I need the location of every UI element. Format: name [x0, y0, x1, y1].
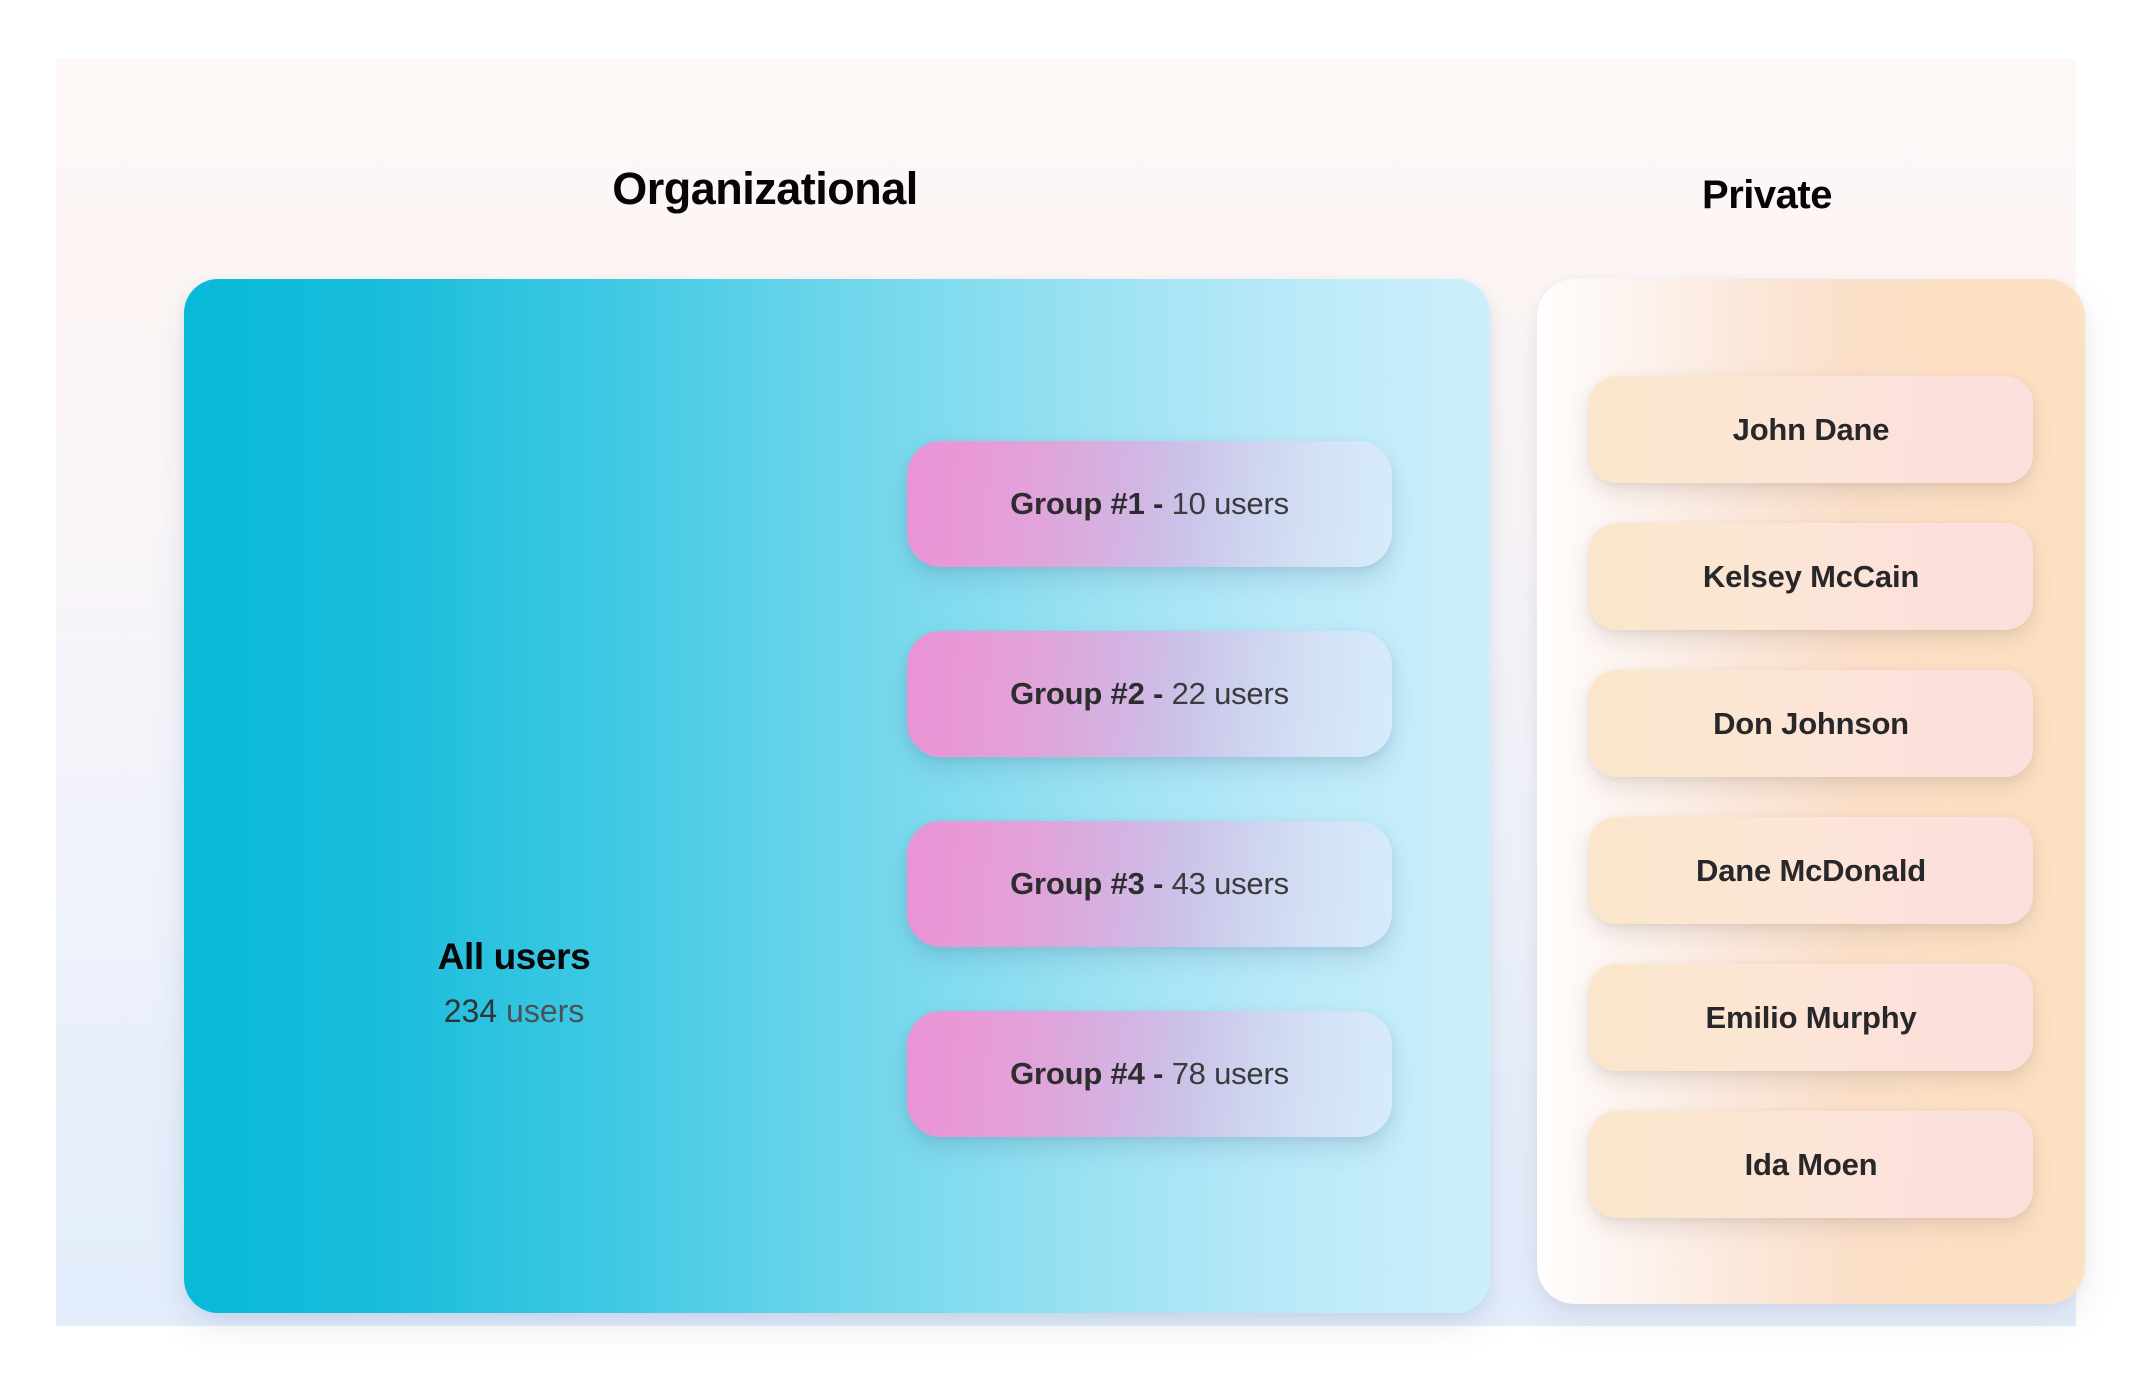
group-item-count: 10 users: [1163, 486, 1289, 521]
private-member-item[interactable]: Emilio Murphy: [1589, 964, 2033, 1071]
private-member-name: Dane McDonald: [1696, 852, 1926, 890]
all-users-block[interactable]: All users 234 users: [314, 934, 714, 1030]
private-member-name: Emilio Murphy: [1706, 999, 1917, 1037]
group-item-name: Group #4 -: [1010, 1056, 1163, 1091]
private-member-name: John Dane: [1733, 411, 1890, 449]
private-member-item[interactable]: John Dane: [1589, 376, 2033, 483]
page-canvas: Organizational Private All users 234 use…: [0, 0, 2136, 1382]
group-item-name: Group #2 -: [1010, 676, 1163, 711]
group-item-label: Group #4 - 78 users: [1010, 1055, 1289, 1093]
private-member-name: Don Johnson: [1713, 705, 1909, 743]
private-panel[interactable]: John Dane Kelsey McCain Don Johnson Dane…: [1537, 279, 2085, 1304]
all-users-label: All users: [314, 934, 714, 980]
private-member-name: Kelsey McCain: [1703, 558, 1919, 596]
group-item[interactable]: Group #2 - 22 users: [907, 631, 1392, 757]
group-item-label: Group #2 - 22 users: [1010, 675, 1289, 713]
private-column-title: Private: [1486, 171, 2048, 219]
group-list: Group #1 - 10 users Group #2 - 22 users …: [907, 441, 1392, 1137]
content-area: Organizational Private All users 234 use…: [56, 58, 2076, 1326]
group-item-label: Group #1 - 10 users: [1010, 485, 1289, 523]
private-member-name: Ida Moen: [1745, 1146, 1878, 1184]
group-item-name: Group #1 -: [1010, 486, 1163, 521]
private-member-item[interactable]: Kelsey McCain: [1589, 523, 2033, 630]
private-member-item[interactable]: Ida Moen: [1589, 1111, 2033, 1218]
group-item[interactable]: Group #4 - 78 users: [907, 1011, 1392, 1137]
organizational-panel[interactable]: All users 234 users Group #1 - 10 users …: [184, 279, 1490, 1313]
all-users-count: 234 users: [314, 992, 714, 1030]
group-item-name: Group #3 -: [1010, 866, 1163, 901]
group-item-count: 78 users: [1163, 1056, 1289, 1091]
all-users-count-unit: users: [497, 993, 584, 1029]
group-item[interactable]: Group #1 - 10 users: [907, 441, 1392, 567]
group-item-count: 22 users: [1163, 676, 1289, 711]
group-item[interactable]: Group #3 - 43 users: [907, 821, 1392, 947]
group-item-label: Group #3 - 43 users: [1010, 865, 1289, 903]
private-member-list: John Dane Kelsey McCain Don Johnson Dane…: [1589, 376, 2033, 1218]
organizational-column-title: Organizational: [56, 163, 1474, 215]
all-users-count-number: 234: [444, 993, 497, 1029]
private-member-item[interactable]: Don Johnson: [1589, 670, 2033, 777]
group-item-count: 43 users: [1163, 866, 1289, 901]
private-member-item[interactable]: Dane McDonald: [1589, 817, 2033, 924]
